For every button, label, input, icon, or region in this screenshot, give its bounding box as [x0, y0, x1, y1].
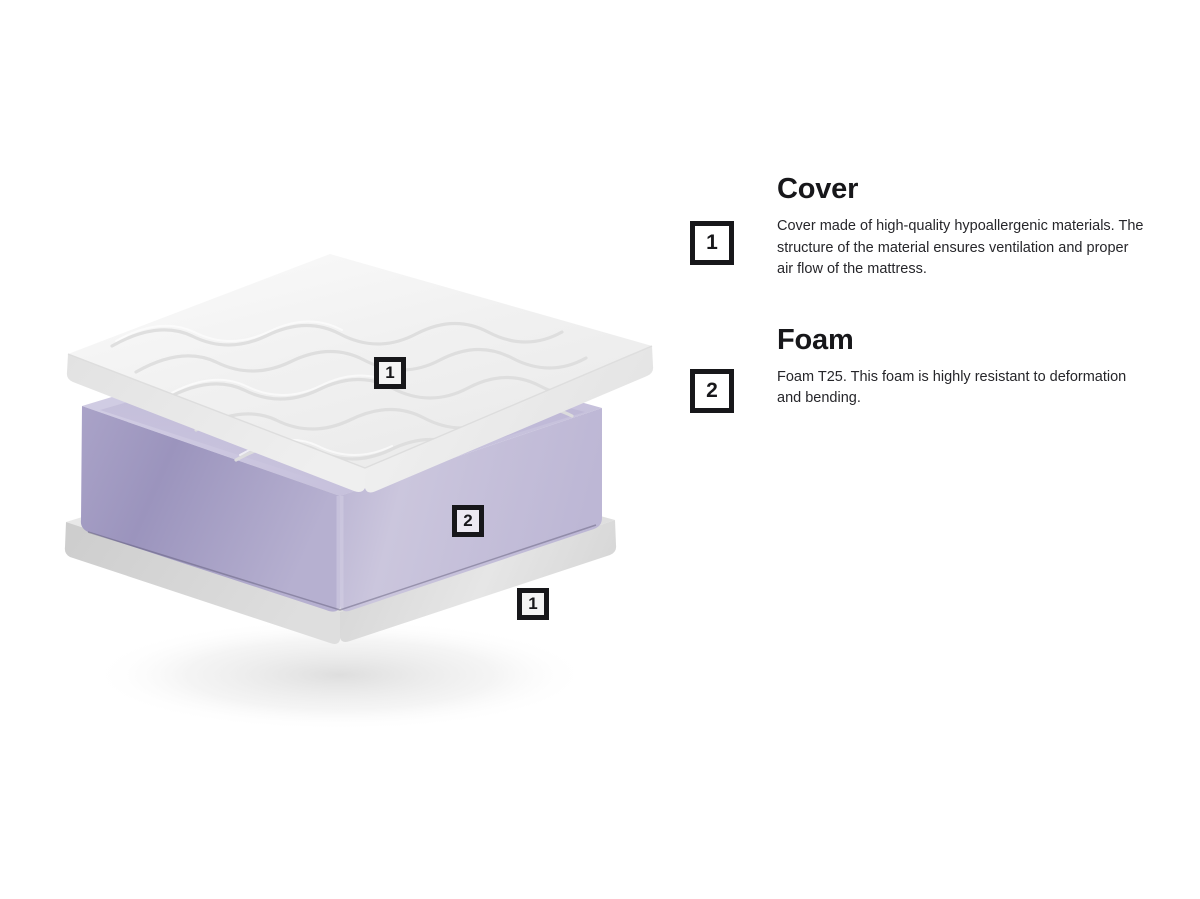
legend-text-foam: Foam T25. This foam is highly resistant …	[777, 367, 1147, 410]
illustration-callout-cover-top[interactable]: 1	[374, 357, 406, 389]
illustration-callout-foam[interactable]: 2	[452, 505, 484, 537]
legend-title-foam: Foam	[777, 323, 1147, 357]
layer-legend: 1 Cover Cover made of high-quality hypoa…	[690, 172, 1160, 413]
legend-badge-cover: 1	[690, 221, 734, 265]
legend-entry-cover: 1 Cover Cover made of high-quality hypoa…	[690, 172, 1160, 281]
mattress-illustration: 1 2 1	[40, 220, 680, 740]
legend-badge-foam: 2	[690, 369, 734, 413]
legend-body-cover: Cover Cover made of high-quality hypoall…	[777, 172, 1147, 281]
legend-text-cover: Cover made of high-quality hypoallergeni…	[777, 216, 1147, 281]
legend-entry-foam: 2 Foam Foam T25. This foam is highly res…	[690, 323, 1160, 413]
mattress-layers-page: 1 2 1 1 Cover Cover made of high-quality…	[0, 0, 1200, 899]
mattress-cutaway-svg	[40, 220, 680, 740]
legend-title-cover: Cover	[777, 172, 1147, 206]
illustration-callout-cover-base[interactable]: 1	[517, 588, 549, 620]
legend-body-foam: Foam Foam T25. This foam is highly resis…	[777, 323, 1147, 410]
